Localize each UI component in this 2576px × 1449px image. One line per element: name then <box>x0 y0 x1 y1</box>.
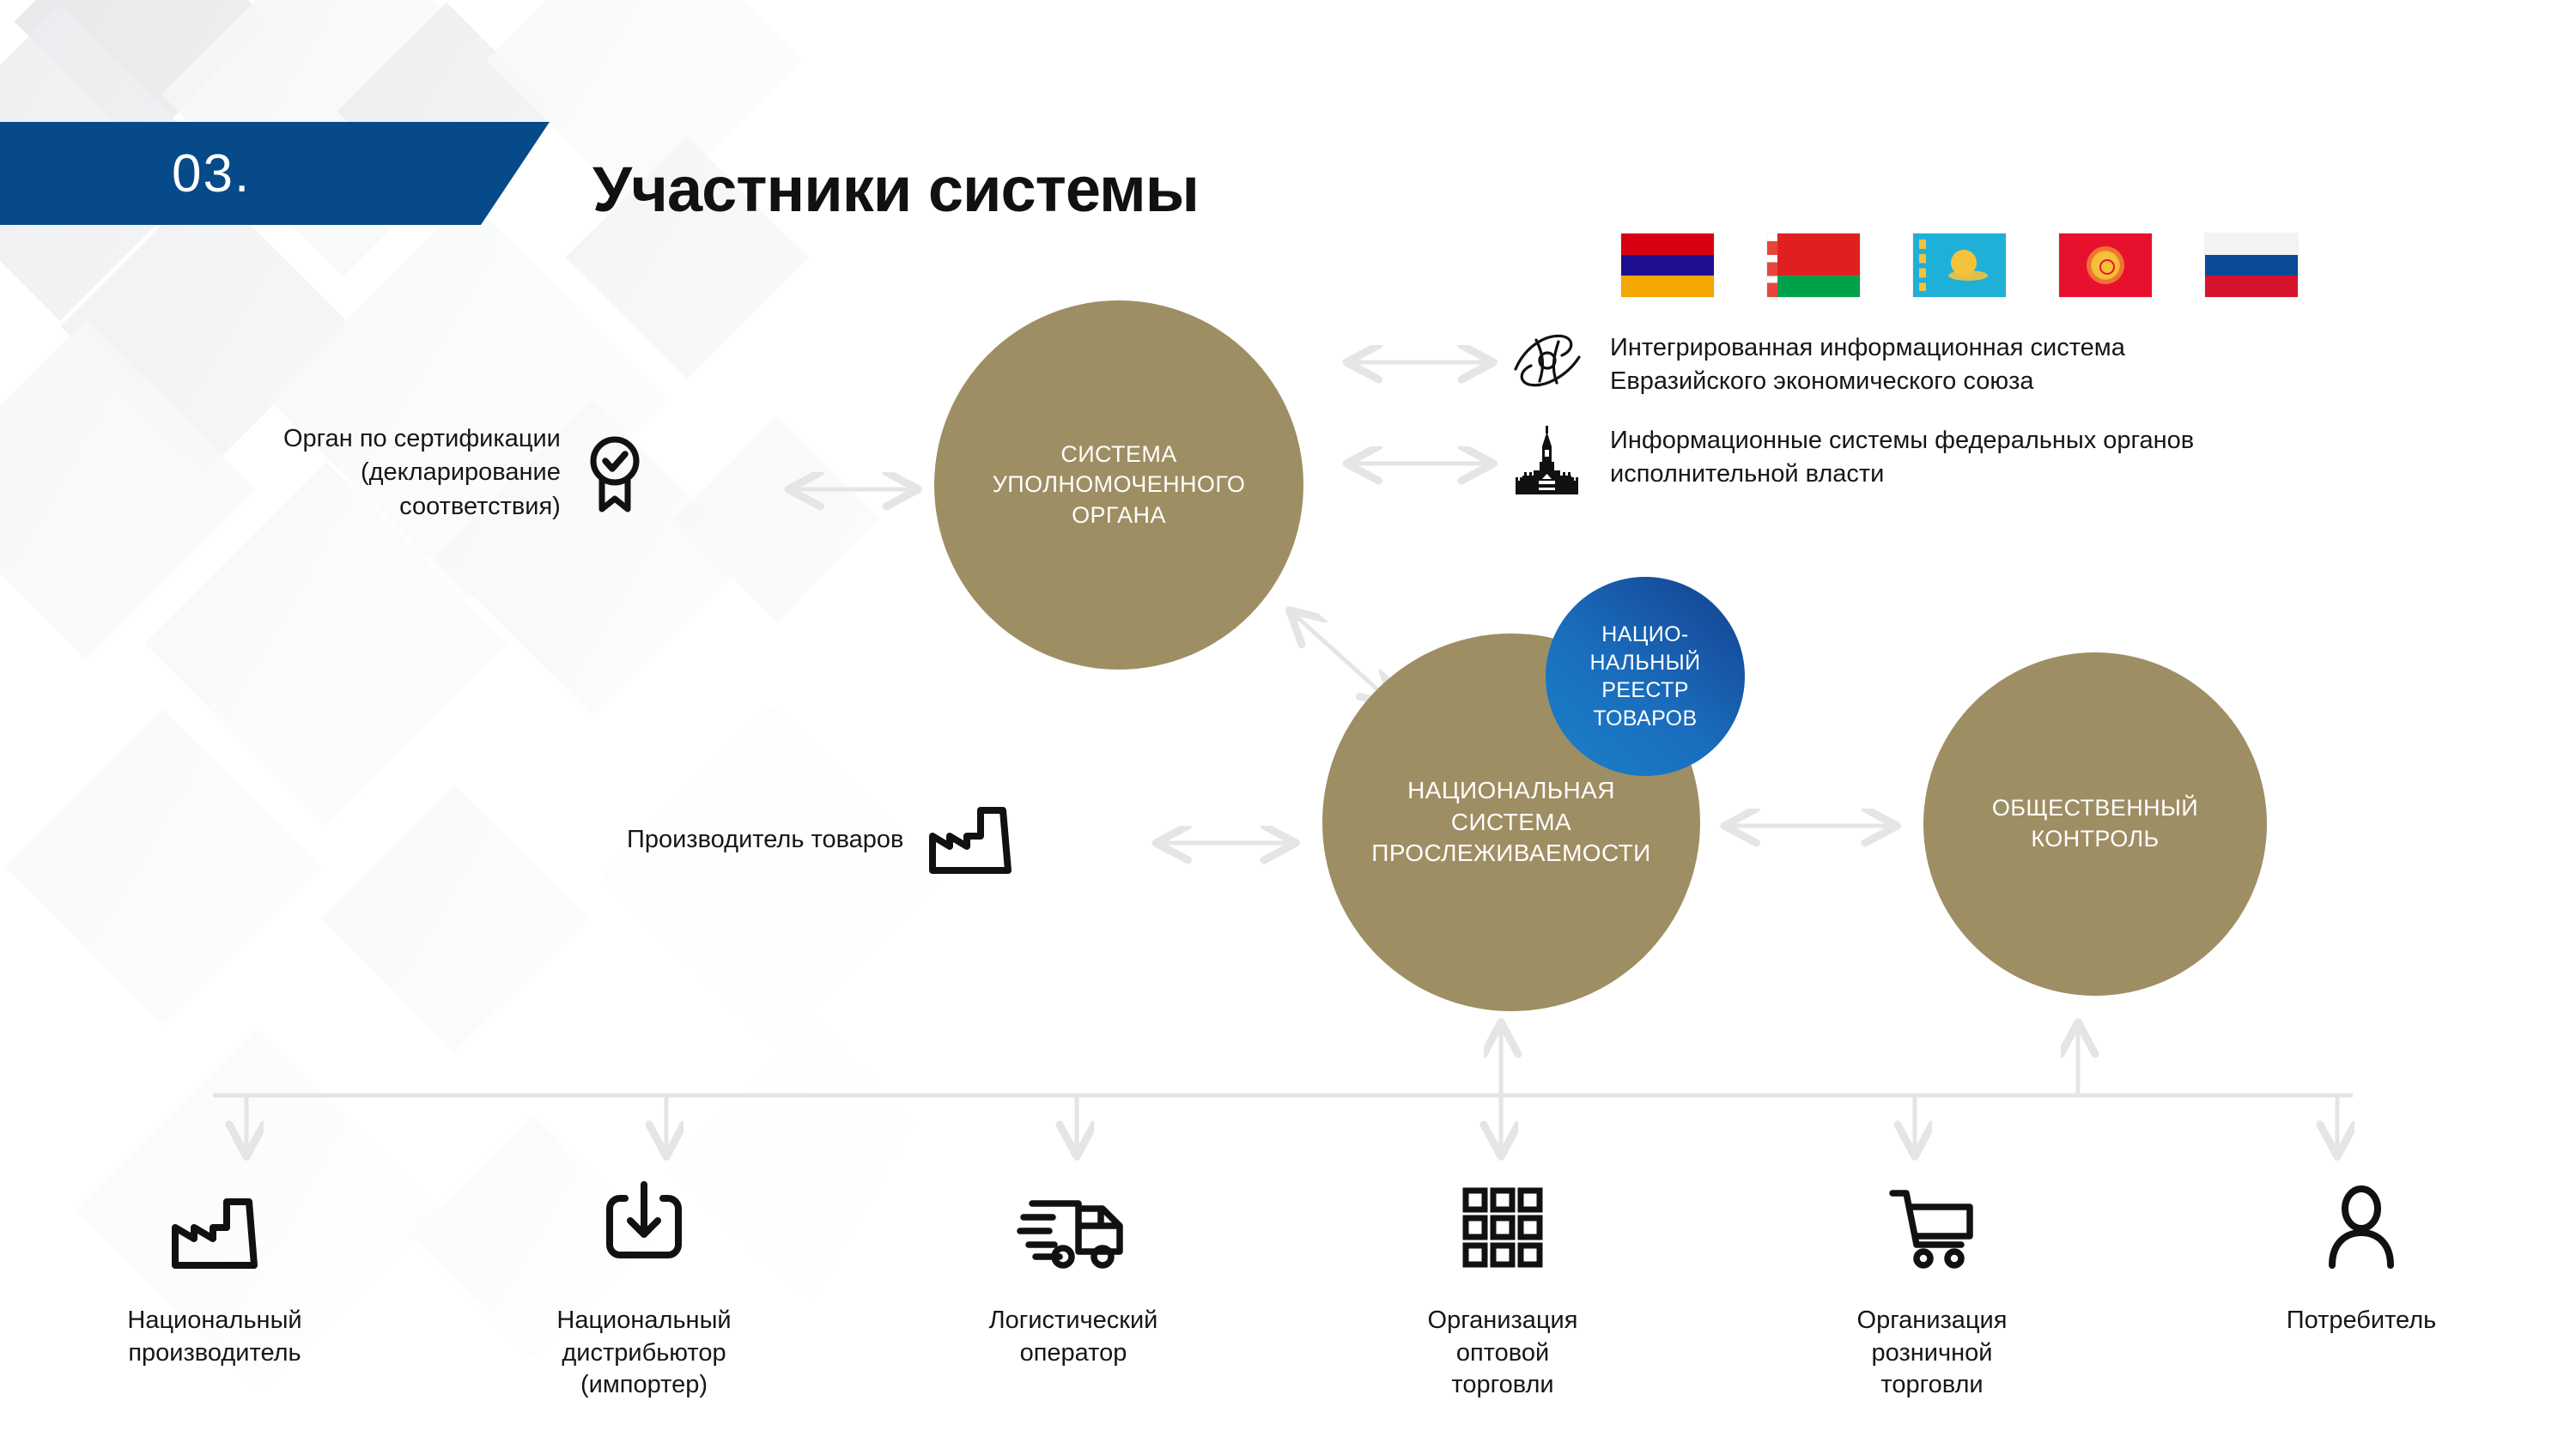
certification-body-label: Орган по сертификации (декларирование со… <box>283 422 561 524</box>
info-eaeu-line2: Евразийского экономического союза <box>1610 367 2034 395</box>
participant-5-line2: розничной <box>1872 1339 1993 1367</box>
info-block-federal-text: Информационные системы федеральных орган… <box>1610 424 2194 491</box>
registry-line4: ТОВАРОВ <box>1593 706 1697 731</box>
participant-5-line3: торговли <box>1880 1371 1983 1398</box>
circle-traceability-label: НАЦИОНАЛЬНАЯ СИСТЕМА ПРОСЛЕЖИВАЕМОСТИ <box>1358 775 1664 870</box>
side-item-goods-producer: Производитель товаров <box>627 807 1013 874</box>
public-control-line1: ОБЩЕСТВЕННЫЙ <box>1992 795 2198 821</box>
section-number-banner: 03. <box>0 122 550 225</box>
participant-3-line1: Логистический <box>989 1307 1158 1334</box>
participant-2-line2: дистрибьютор <box>562 1339 726 1367</box>
participant-wholesale-organization: Организация оптовой торговли <box>1288 1174 1717 1402</box>
participant-retail-organization: Организация розничной торговли <box>1717 1174 2147 1402</box>
participant-national-producer: Национальный производитель <box>0 1174 429 1402</box>
participant-4-line3: торговли <box>1451 1371 1553 1398</box>
participant-label: Организация розничной торговли <box>1857 1305 2008 1402</box>
participant-label: Потребитель <box>2287 1305 2437 1337</box>
side-item-certification-body: Орган по сертификации (декларирование со… <box>283 422 647 524</box>
participant-4-line2: оптовой <box>1456 1339 1549 1367</box>
goods-producer-label: Производитель товаров <box>627 823 903 857</box>
circle-authorized-body: СИСТЕМА УПОЛНОМОЧЕННОГО ОРГАНА <box>934 300 1303 670</box>
factory-icon <box>168 1174 261 1269</box>
info-federal-line1: Информационные системы федеральных орган… <box>1610 427 2194 454</box>
factory-icon <box>927 807 1013 874</box>
slide-canvas: 03. Участники системы <box>0 0 2576 1449</box>
traceability-line2: СИСТЕМА <box>1451 809 1571 835</box>
shopping-cart-icon <box>1887 1174 1977 1269</box>
registry-line2: НАЛЬНЫЙ <box>1589 651 1700 675</box>
russia-flag <box>2205 233 2298 297</box>
kyrgyzstan-flag <box>2059 233 2152 297</box>
section-number: 03. <box>172 143 251 204</box>
belarus-flag <box>1767 233 1860 297</box>
participant-consumer: Потребитель <box>2147 1174 2576 1402</box>
boxes-grid-icon <box>1461 1174 1544 1269</box>
person-icon <box>2324 1174 2399 1269</box>
certification-line3: соответствия) <box>399 493 561 520</box>
certificate-badge-icon <box>583 433 647 512</box>
participant-label: Национальный производитель <box>127 1305 301 1369</box>
circle-authorized-body-label: СИСТЕМА УПОЛНОМОЧЕННОГО ОРГАНА <box>979 440 1259 531</box>
info-eaeu-line1: Интегрированная информационная система <box>1610 334 2125 361</box>
public-control-line2: КОНТРОЛЬ <box>2031 826 2159 852</box>
participant-6-line1: Потребитель <box>2287 1307 2437 1334</box>
certification-line1: Орган по сертификации <box>283 425 561 452</box>
armenia-flag <box>1621 233 1714 297</box>
registry-line3: РЕЕСТР <box>1601 678 1689 702</box>
authorized-body-line3: ОРГАНА <box>1072 502 1166 528</box>
import-box-icon <box>601 1174 687 1269</box>
eaeu-flags-row <box>1621 233 2298 297</box>
kazakhstan-flag <box>1913 233 2006 297</box>
government-building-icon <box>1507 424 1588 496</box>
participant-label: Организация оптовой торговли <box>1428 1305 1578 1402</box>
traceability-line1: НАЦИОНАЛЬНАЯ <box>1407 777 1615 803</box>
info-block-federal: Информационные системы федеральных орган… <box>1507 424 2194 496</box>
participant-1-line2: производитель <box>128 1339 301 1367</box>
authorized-body-line1: СИСТЕМА <box>1060 441 1176 467</box>
participants-row: Национальный производитель Национальный … <box>0 1174 2576 1402</box>
traceability-line3: ПРОСЛЕЖИВАЕМОСТИ <box>1371 840 1650 866</box>
info-block-eaeu-text: Интегрированная информационная система Е… <box>1610 331 2125 398</box>
participant-1-line1: Национальный <box>127 1307 301 1334</box>
participant-logistics-operator: Логистический оператор <box>859 1174 1288 1402</box>
circle-public-control-label: ОБЩЕСТВЕННЫЙ КОНТРОЛЬ <box>1978 793 2212 854</box>
circle-registry-label: НАЦИО- НАЛЬНЫЙ РЕЕСТР ТОВАРОВ <box>1576 621 1714 732</box>
circle-national-product-registry: НАЦИО- НАЛЬНЫЙ РЕЕСТР ТОВАРОВ <box>1546 577 1745 776</box>
participant-4-line1: Организация <box>1428 1307 1578 1334</box>
participant-3-line2: оператор <box>1020 1339 1127 1367</box>
participant-2-line1: Национальный <box>556 1307 731 1334</box>
info-federal-line2: исполнительной власти <box>1610 460 1884 488</box>
participant-label: Национальный дистрибьютор (импортер) <box>556 1305 731 1402</box>
authorized-body-line2: УПОЛНОМОЧЕННОГО <box>993 471 1245 497</box>
certification-line2: (декларирование <box>361 458 561 486</box>
participant-2-line3: (импортер) <box>580 1371 708 1398</box>
page-title: Участники системы <box>592 153 1199 226</box>
participant-label: Логистический оператор <box>989 1305 1158 1369</box>
delivery-truck-icon <box>1018 1174 1128 1269</box>
eaeu-emblem-icon <box>1507 331 1588 393</box>
info-block-eaeu: Интегрированная информационная система Е… <box>1507 331 2125 398</box>
circle-public-control: ОБЩЕСТВЕННЫЙ КОНТРОЛЬ <box>1923 652 2267 996</box>
participant-national-distributor: Национальный дистрибьютор (импортер) <box>429 1174 859 1402</box>
participant-5-line1: Организация <box>1857 1307 2008 1334</box>
registry-line1: НАЦИО- <box>1601 622 1688 646</box>
